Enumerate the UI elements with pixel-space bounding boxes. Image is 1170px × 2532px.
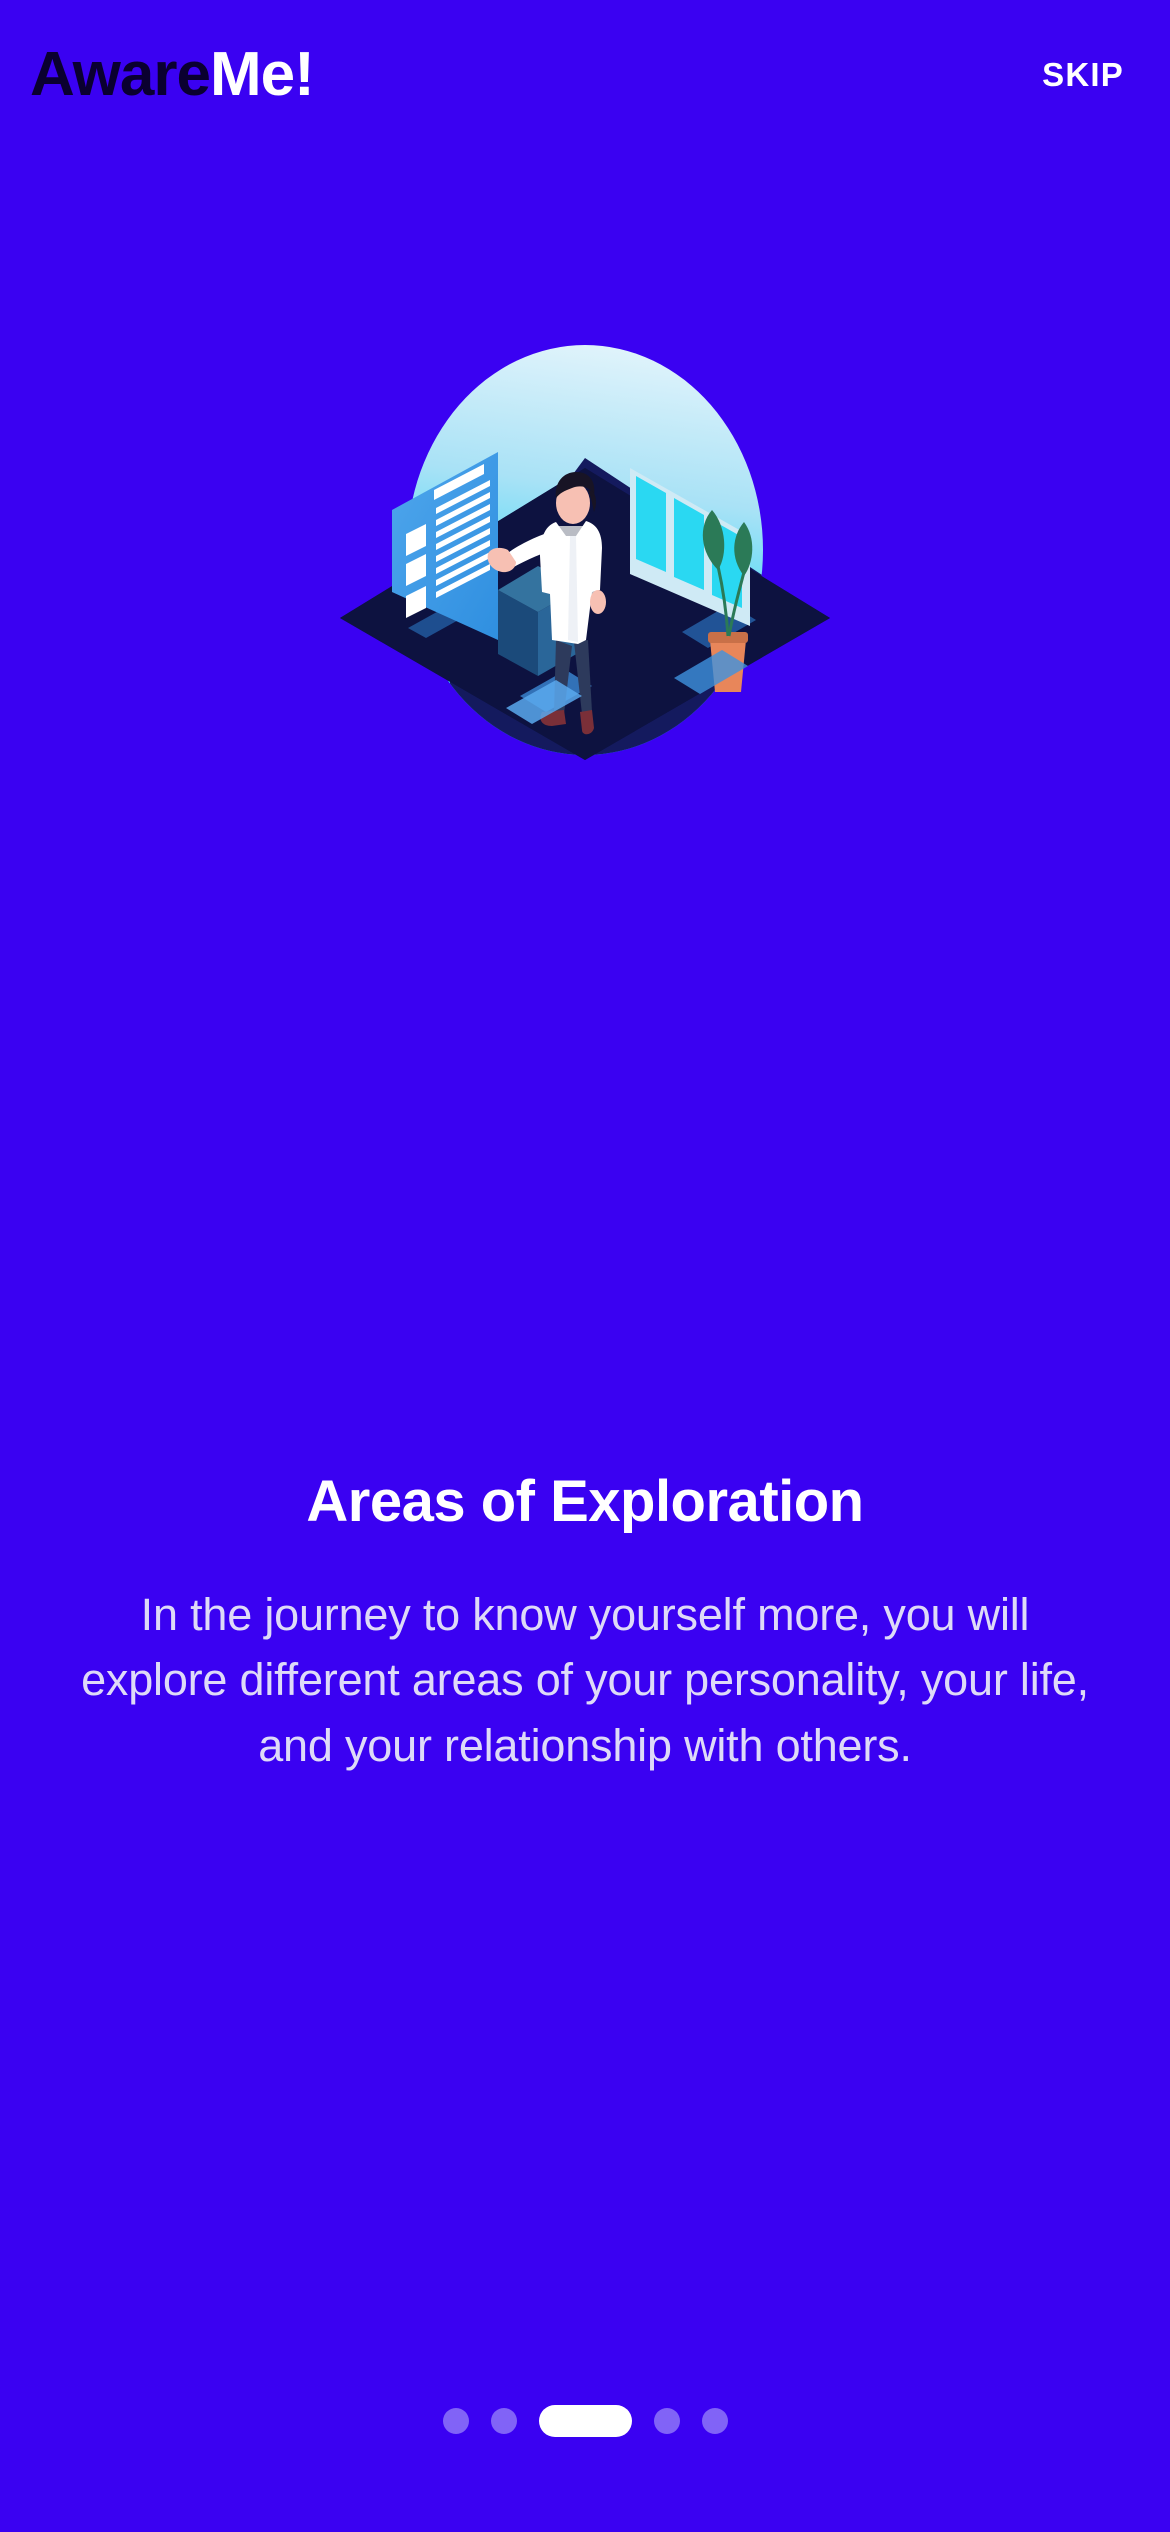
skip-button[interactable]: SKIP [1032,44,1134,106]
app-logo: AwareMe! [30,44,314,106]
page-title: Areas of Exploration [60,1470,1110,1534]
logo-text-aware: Aware [30,44,210,106]
pagination-dot-1[interactable] [443,2408,469,2434]
pagination-indicator [0,2405,1170,2437]
pagination-dot-5[interactable] [702,2408,728,2434]
person-shoe-right [580,710,594,734]
pagination-dot-3-active[interactable] [539,2405,632,2437]
pagination-dot-2[interactable] [491,2408,517,2434]
pagination-dot-4[interactable] [654,2408,680,2434]
logo-text-me: Me! [210,44,314,106]
person-hand-lower [590,590,606,614]
illustration-container [0,330,1170,770]
slide-text-block: Areas of Exploration In the journey to k… [0,1470,1170,1779]
page-description: In the journey to know yourself more, yo… [70,1582,1100,1779]
top-bar: AwareMe! SKIP [0,0,1170,150]
areas-of-exploration-illustration [330,340,840,760]
